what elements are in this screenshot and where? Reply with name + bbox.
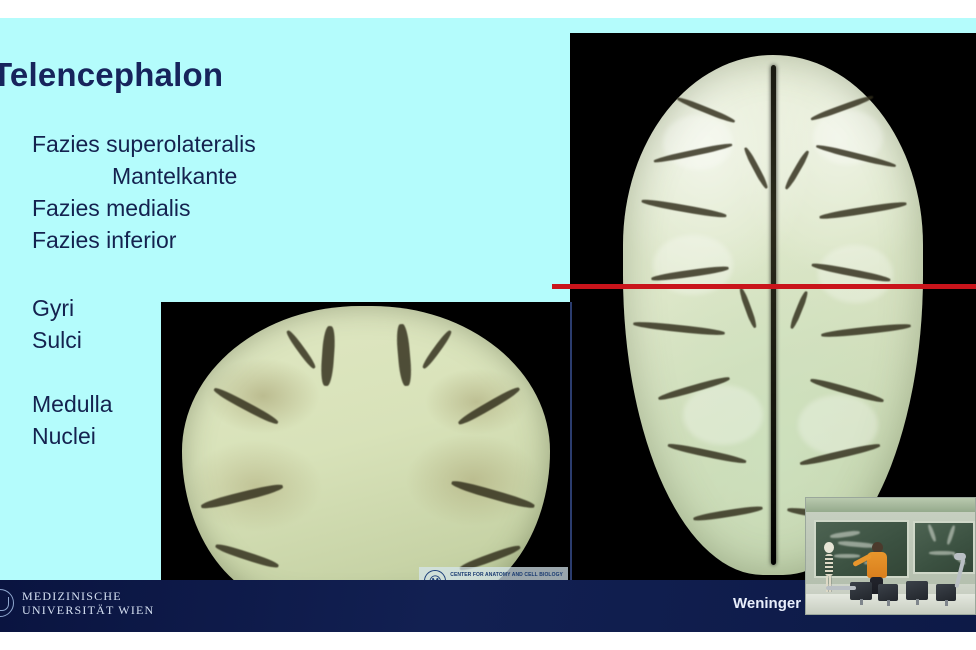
monitor-stand xyxy=(887,600,890,606)
presenter-name: Weninger xyxy=(733,595,801,612)
brain-coronal-specimen xyxy=(182,306,550,580)
skull xyxy=(824,542,834,553)
bullet-list-facies: Fazies superolateralis Mantelkante Fazie… xyxy=(32,128,256,256)
top-letterbox xyxy=(0,0,976,18)
list-item: Nuclei xyxy=(32,420,113,452)
lecture-hall-camera-feed[interactable] xyxy=(805,497,976,615)
list-item: Medulla xyxy=(32,388,113,420)
watermark-line-2: MEDICAL UNIVERSITY OF VIENNA xyxy=(450,579,563,580)
desk-edge xyxy=(826,586,856,590)
university-logo: MEDIZINISCHE UNIVERSITÄT WIEN xyxy=(0,589,154,617)
bottom-letterbox xyxy=(0,632,976,650)
monitor xyxy=(878,584,898,601)
chalkboard-right xyxy=(913,521,975,574)
coronal-section-indicator-line xyxy=(552,284,976,289)
monitor-stand xyxy=(860,599,863,605)
monitor xyxy=(906,581,928,600)
list-item: Mantelkante xyxy=(32,160,256,192)
monitor-stand xyxy=(945,600,948,606)
ribcage xyxy=(825,554,833,576)
monitor xyxy=(850,582,872,600)
university-mark-icon xyxy=(0,589,14,617)
university-name-line-2: UNIVERSITÄT WIEN xyxy=(22,603,154,617)
skeleton-model xyxy=(822,542,836,590)
institution-logo-icon: Ⓜ xyxy=(424,570,446,580)
university-name-line-1: MEDIZINISCHE xyxy=(22,589,154,603)
page-title: Telencephalon xyxy=(0,56,223,94)
list-item: Gyri xyxy=(32,292,82,324)
lamp-head xyxy=(954,553,966,560)
list-item: Fazies superolateralis xyxy=(32,128,256,160)
bullet-list-surface-features: Gyri Sulci xyxy=(32,292,82,356)
source-watermark: Ⓜ CENTER FOR ANATOMY AND CELL BIOLOGY ME… xyxy=(419,567,568,580)
longitudinal-fissure xyxy=(771,65,776,565)
list-item: Sulci xyxy=(32,324,82,356)
brain-coronal-section-photo: Ⓜ CENTER FOR ANATOMY AND CELL BIOLOGY ME… xyxy=(161,302,572,580)
list-item: Fazies inferior xyxy=(32,224,256,256)
presentation-slide: Telencephalon Fazies superolateralis Man… xyxy=(0,18,976,580)
monitor xyxy=(936,584,956,601)
list-item: Fazies medialis xyxy=(32,192,256,224)
bullet-list-internal-structures: Medulla Nuclei xyxy=(32,388,113,452)
monitor-stand xyxy=(916,599,919,605)
screen-capture: Telencephalon Fazies superolateralis Man… xyxy=(0,0,976,650)
